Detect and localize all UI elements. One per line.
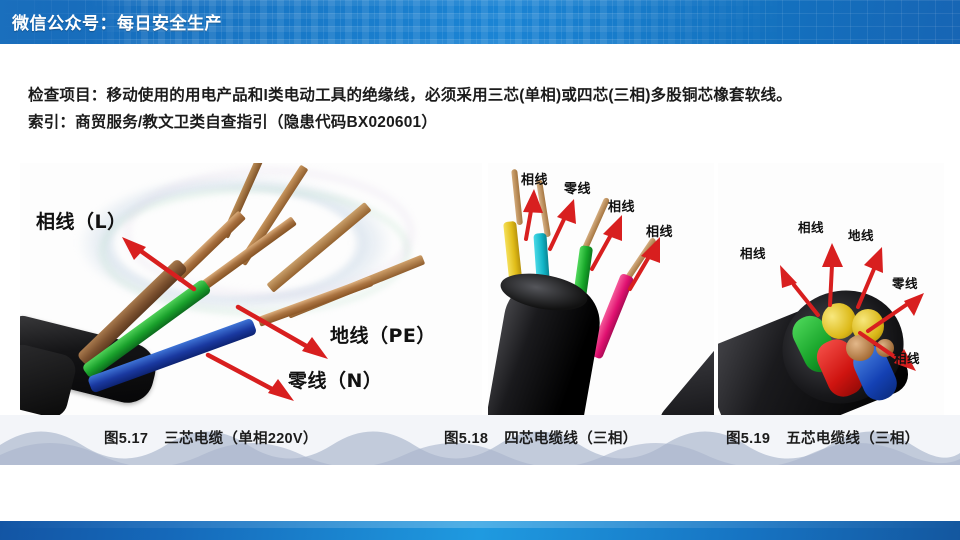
caption-5-19: 图5.19五芯电缆线（三相） bbox=[726, 427, 919, 448]
description-text-block: 检查项目：移动使用的用电产品和I类电动工具的绝缘线，必须采用三芯(单相)或四芯(… bbox=[28, 82, 938, 136]
figure-strip: 相线（L） 地线（PE） 零线（N） bbox=[20, 163, 944, 425]
page-title: 微信公众号：每日安全生产 bbox=[12, 9, 222, 34]
inspection-item-line: 检查项目：移动使用的用电产品和I类电动工具的绝缘线，必须采用三芯(单相)或四芯(… bbox=[28, 82, 938, 109]
figure-label-live-1: 相线 bbox=[740, 243, 766, 262]
caption-text: 四芯电缆线（三相） bbox=[504, 431, 637, 447]
figure-label-live-2: 相线 bbox=[608, 196, 635, 215]
figure-label-live-3: 相线 bbox=[646, 221, 673, 240]
figure-label-neutral: 零线 bbox=[892, 273, 918, 292]
caption-number: 图5.17 bbox=[104, 431, 148, 447]
caption-number: 图5.19 bbox=[726, 431, 770, 447]
figure-image-5-19: 相线 相线 地线 零线 相线 bbox=[718, 163, 944, 425]
figure-label-earth: 地线 bbox=[848, 225, 874, 244]
figure-image-5-17: 相线（L） 地线（PE） 零线（N） bbox=[20, 163, 482, 425]
footer-bar bbox=[0, 521, 960, 540]
footer-highlight bbox=[0, 521, 960, 528]
figure-label-neutral-N: 零线（N） bbox=[288, 366, 382, 393]
figure-label-live-L: 相线（L） bbox=[36, 207, 127, 234]
figure-label-live-3: 相线 bbox=[894, 348, 920, 367]
caption-5-18: 图5.18四芯电缆线（三相） bbox=[444, 427, 637, 448]
figure-image-5-18: 相线 零线 相线 相线 bbox=[488, 163, 714, 425]
figure-captions: 图5.17三芯电缆（单相220V） 图5.18四芯电缆线（三相） 图5.19五芯… bbox=[0, 427, 960, 453]
figure-label-live-2: 相线 bbox=[798, 217, 824, 236]
figure-label-earth-PE: 地线（PE） bbox=[330, 321, 436, 348]
caption-text: 五芯电缆线（三相） bbox=[786, 431, 919, 447]
copper-conductor-small bbox=[876, 339, 894, 357]
index-line: 索引：商贸服务/教文卫类自查指引（隐患代码BX020601） bbox=[28, 109, 938, 136]
figure-label-neutral: 零线 bbox=[564, 178, 591, 197]
figure-label-live-1: 相线 bbox=[521, 169, 548, 188]
header-bar: 微信公众号：每日安全生产 bbox=[0, 0, 960, 44]
copper-conductor bbox=[846, 335, 874, 361]
caption-5-17: 图5.17三芯电缆（单相220V） bbox=[104, 427, 318, 448]
caption-number: 图5.18 bbox=[444, 431, 488, 447]
caption-text: 三芯电缆（单相220V） bbox=[164, 431, 317, 447]
